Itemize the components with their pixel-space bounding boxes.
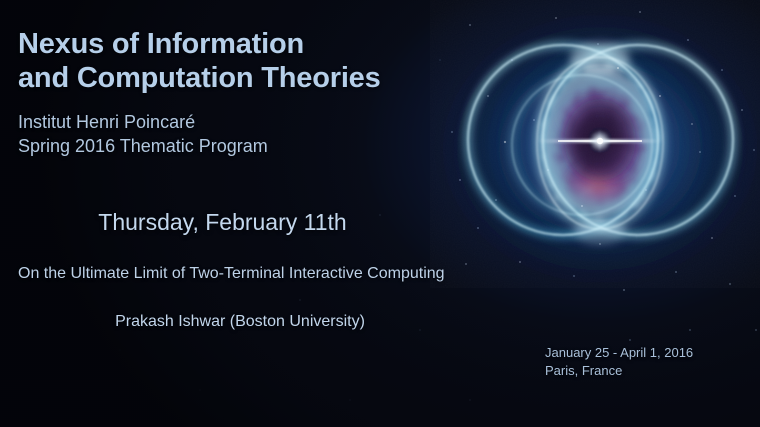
event-date: Thursday, February 11th — [0, 209, 445, 236]
poster-venue: Institut Henri Poincaré Spring 2016 Them… — [18, 111, 268, 159]
poster-title: Nexus of Information and Computation The… — [18, 27, 381, 95]
conference-poster: Nexus of Information and Computation The… — [0, 0, 760, 427]
talk-title: On the Ultimate Limit of Two-Terminal In… — [18, 265, 445, 283]
speaker-name: Prakash Ishwar (Boston University) — [0, 313, 480, 331]
program-dates-location: January 25 - April 1, 2016 Paris, France — [545, 344, 693, 379]
